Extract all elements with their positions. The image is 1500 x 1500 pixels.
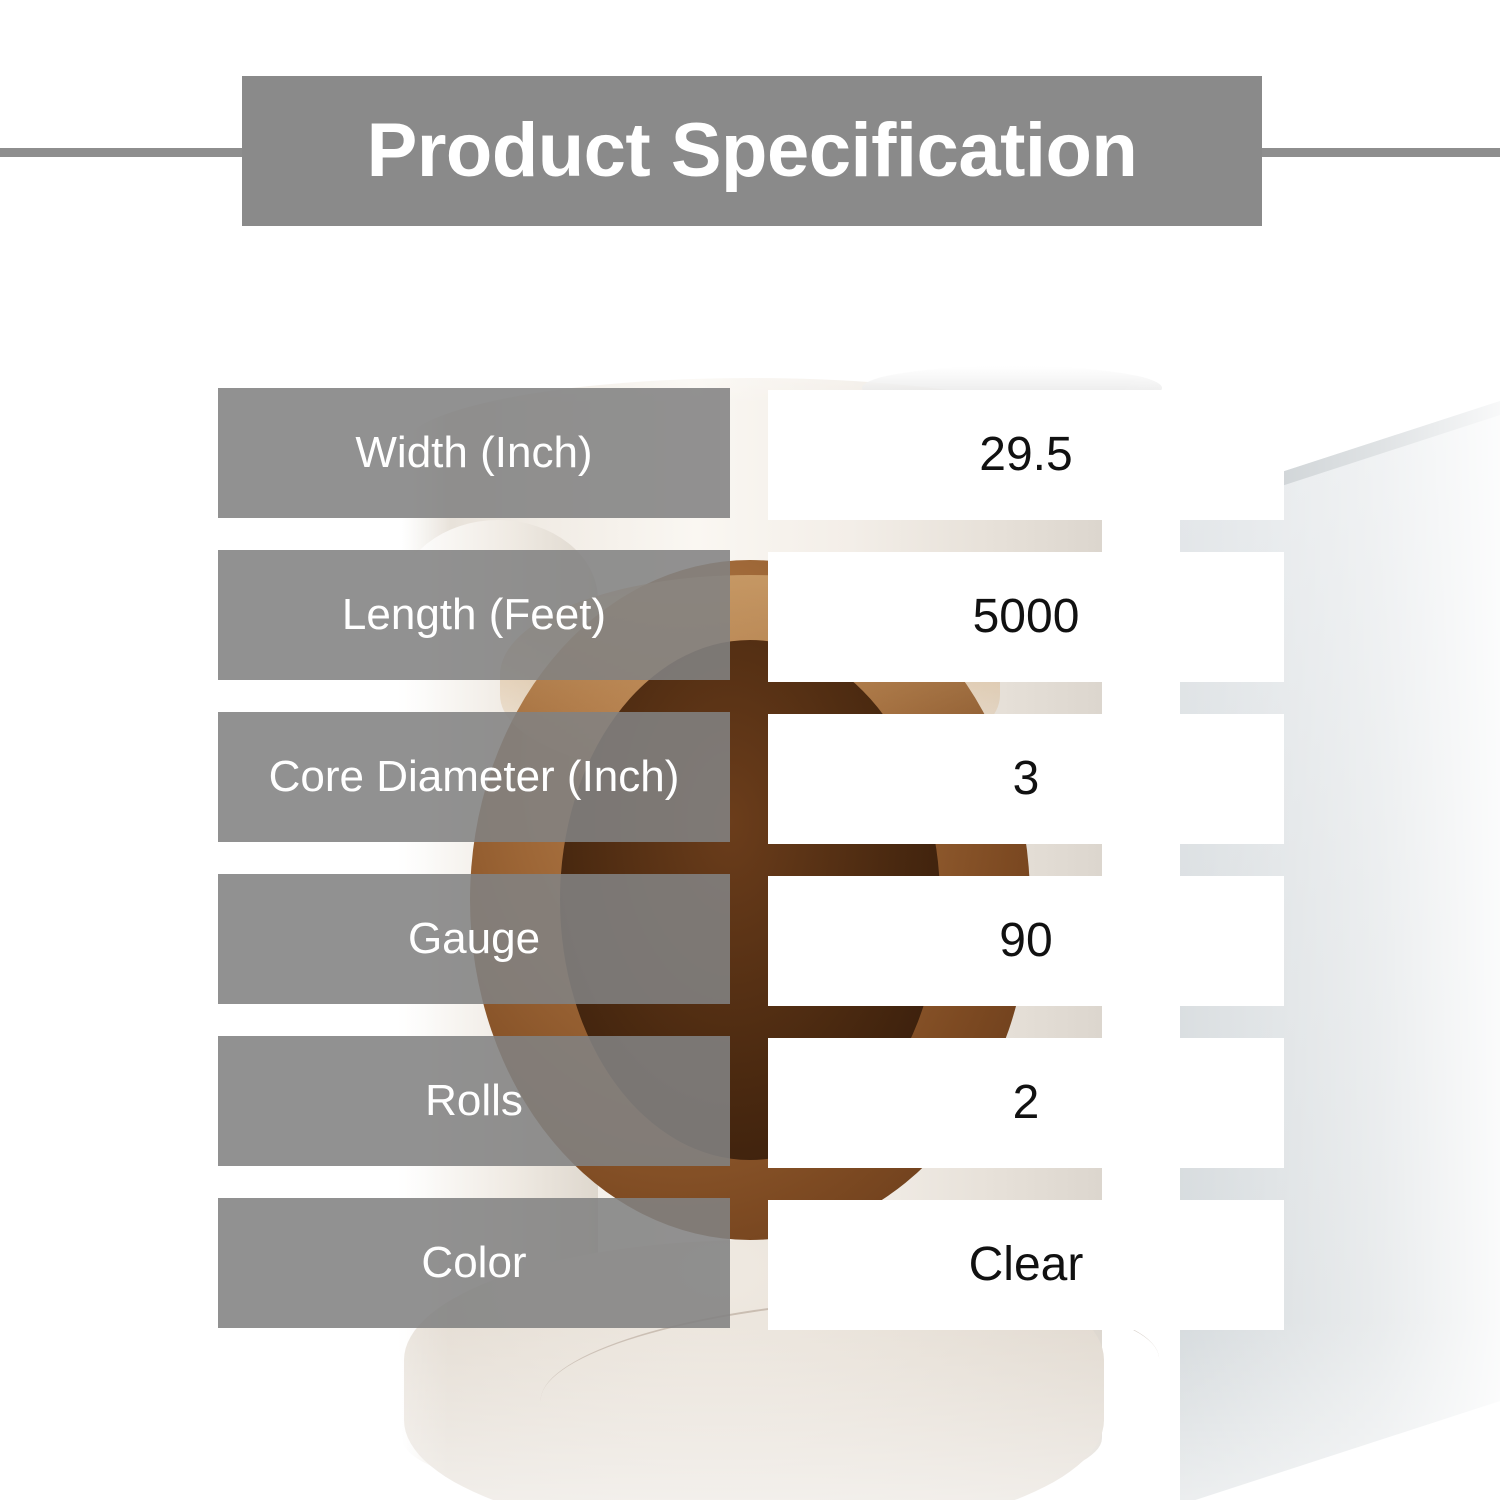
spec-label-text: Gauge (408, 917, 540, 962)
spec-value-text: Clear (969, 1240, 1084, 1290)
spec-value-color: Clear (768, 1200, 1284, 1330)
product-specification-infographic: Product Specification Width (Inch) 29.5 … (0, 0, 1500, 1500)
spec-value-text: 3 (1013, 754, 1040, 804)
spec-label-color: Color (218, 1198, 730, 1328)
spec-label-text: Color (421, 1241, 526, 1286)
spec-label-text: Rolls (425, 1079, 523, 1124)
spec-label-length: Length (Feet) (218, 550, 730, 680)
spec-value-text: 90 (999, 916, 1052, 966)
spec-label-core-diameter: Core Diameter (Inch) (218, 712, 730, 842)
spec-value-gauge: 90 (768, 876, 1284, 1006)
spec-label-gauge: Gauge (218, 874, 730, 1004)
spec-value-core-diameter: 3 (768, 714, 1284, 844)
spec-value-text: 5000 (973, 592, 1080, 642)
spec-label-text: Core Diameter (Inch) (269, 755, 680, 800)
spec-value-width: 29.5 (768, 390, 1284, 520)
spec-value-length: 5000 (768, 552, 1284, 682)
specification-table: Width (Inch) 29.5 Length (Feet) 5000 Cor… (0, 0, 1500, 1500)
spec-label-rolls: Rolls (218, 1036, 730, 1166)
spec-value-text: 29.5 (979, 430, 1072, 480)
spec-value-rolls: 2 (768, 1038, 1284, 1168)
spec-label-text: Width (Inch) (355, 431, 592, 476)
spec-label-text: Length (Feet) (342, 593, 606, 638)
spec-value-text: 2 (1013, 1078, 1040, 1128)
spec-label-width: Width (Inch) (218, 388, 730, 518)
